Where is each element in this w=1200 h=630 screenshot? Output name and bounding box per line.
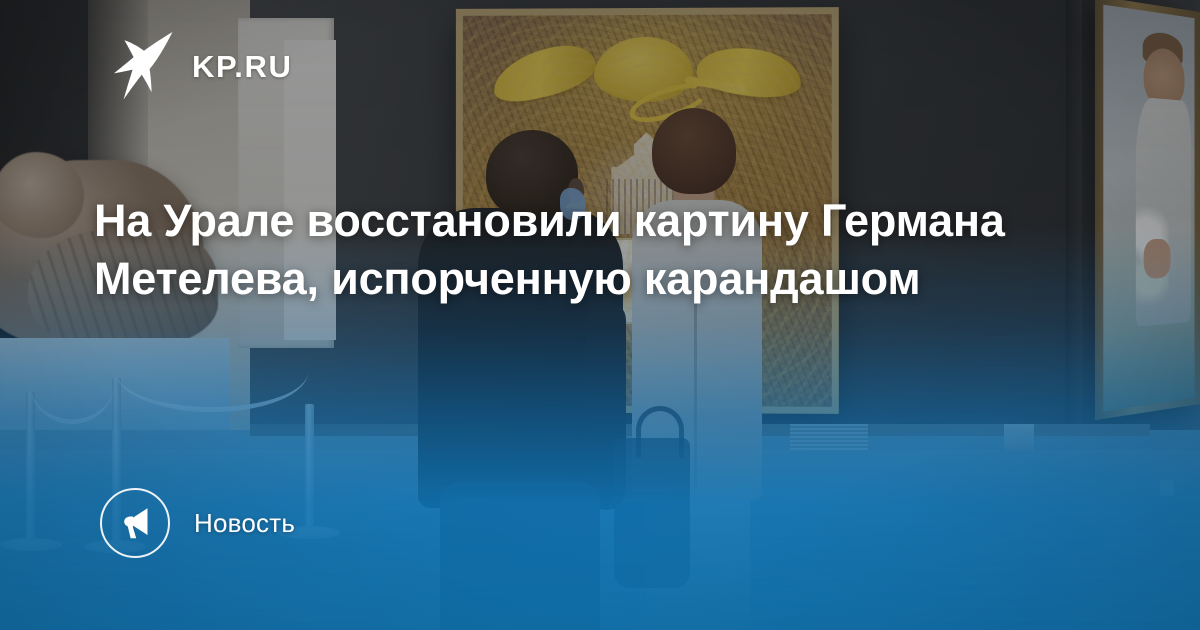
badge-label: Новость (194, 508, 295, 539)
megaphone-icon (117, 505, 153, 541)
page-title: На Урале восстановили картину Германа Ме… (94, 192, 1044, 308)
brand-logo[interactable]: KP.RU (108, 30, 292, 104)
card-content: KP.RU На Урале восстановили картину Герм… (0, 0, 1200, 630)
status-badge[interactable]: Новость (100, 488, 295, 558)
news-share-card: KP.RU На Урале восстановили картину Герм… (0, 0, 1200, 630)
brand-name: KP.RU (192, 49, 292, 85)
badge-icon-circle (100, 488, 170, 558)
swallow-bird-icon (108, 30, 174, 104)
